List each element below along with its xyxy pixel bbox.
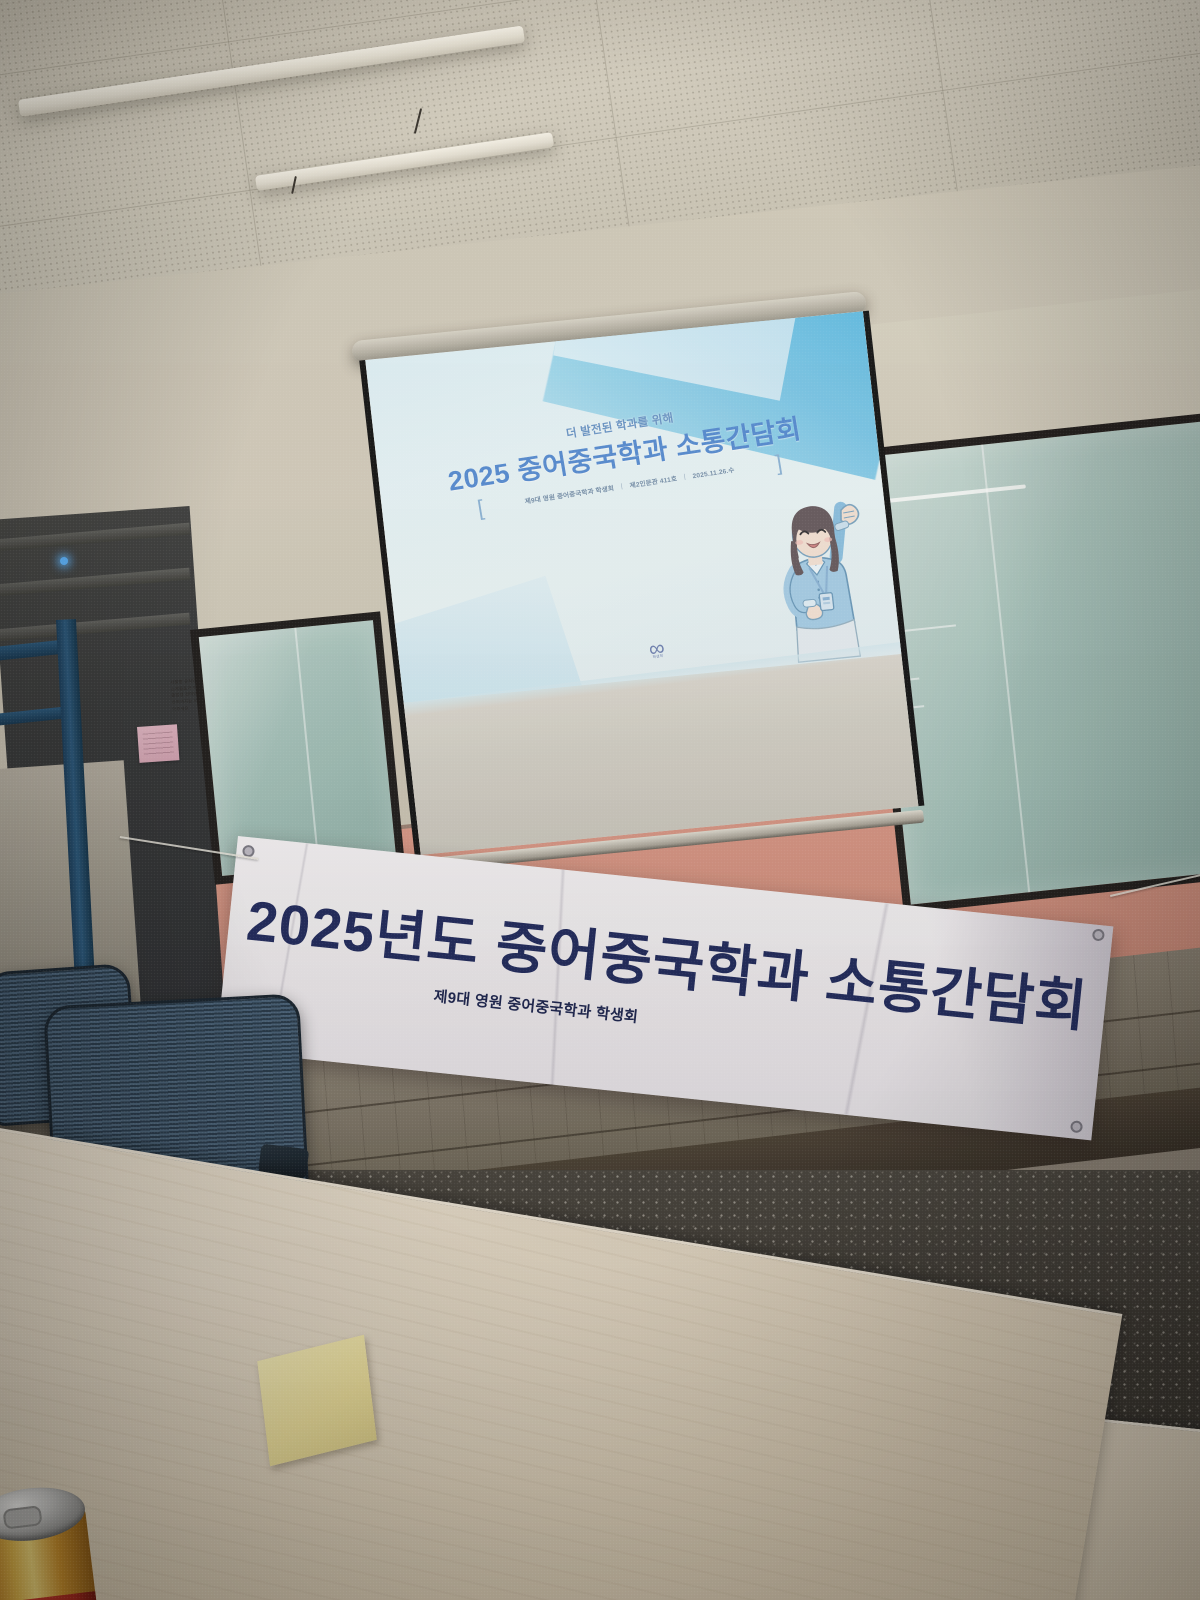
classroom-photo-scene: 사물함 공지입니다 스케줄표가 아닙니다 졸업생 것이었으며 안쪽까지는 쓰지 … bbox=[0, 0, 1200, 1600]
light-reflection bbox=[874, 484, 1026, 504]
meta-divider: | bbox=[683, 473, 686, 480]
can-pull-tab bbox=[2, 1505, 42, 1529]
board-divider bbox=[294, 628, 319, 867]
slide-meta-location: 제2인문관 411호 bbox=[629, 473, 678, 490]
meta-divider: | bbox=[620, 482, 623, 489]
projected-slide: 더 발전된 학과를 위해 2025 중어중국학과 소통간담회 [ ] 제9대 영… bbox=[365, 311, 901, 703]
glass-sheen bbox=[864, 417, 1200, 904]
beverage-can[interactable] bbox=[0, 1482, 98, 1600]
pink-notice-paper bbox=[137, 724, 179, 763]
projection-screen: 더 발전된 학과를 위해 2025 중어중국학과 소통간담회 [ ] 제9대 영… bbox=[365, 309, 919, 860]
blue-led-indicator-icon bbox=[60, 557, 68, 565]
board-divider bbox=[981, 445, 1030, 893]
screen-surface: 더 발전된 학과를 위해 2025 중어중국학과 소통간담회 [ ] 제9대 영… bbox=[365, 311, 918, 855]
can-stripe bbox=[0, 1591, 98, 1600]
slide-meta-date: 2025.11.26.수 bbox=[692, 464, 735, 480]
slide-meta-organizer: 제9대 영원 중어중국학과 학생회 bbox=[524, 482, 615, 505]
pink-notice-text-lines bbox=[142, 732, 173, 756]
cheering-student-illustration bbox=[752, 482, 883, 667]
